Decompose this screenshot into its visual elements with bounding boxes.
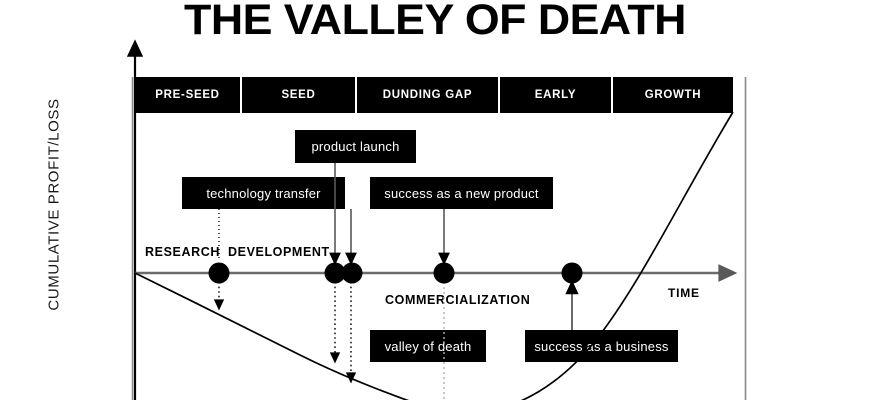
milestone-dot-development-b[interactable] bbox=[342, 263, 363, 284]
milestone-dot-commercialization[interactable] bbox=[434, 263, 455, 284]
milestone-dot-research[interactable] bbox=[209, 263, 230, 284]
milestone-dot-growth[interactable] bbox=[562, 263, 583, 284]
chart-vector-layer bbox=[0, 0, 870, 400]
loss-curve bbox=[135, 273, 440, 400]
diagram-canvas: THE VALLEY OF DEATH CUMULATIVE PROFIT/LO… bbox=[0, 0, 870, 400]
profit-curve bbox=[470, 112, 733, 400]
